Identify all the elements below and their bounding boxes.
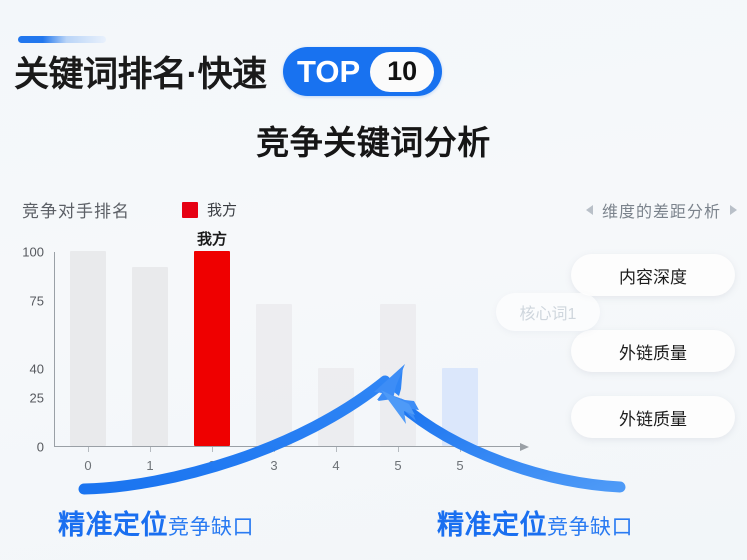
bar [256,304,292,446]
dimension-pill[interactable]: 内容深度 [571,254,735,296]
chart-legend: 我方 [182,199,237,220]
legend-swatch-icon [182,202,198,218]
x-tick-label: 5 [394,458,401,473]
bar [442,368,478,446]
dimension-pill-label: 外链质量 [619,339,687,364]
keyword-ghost-pill-label: 核心词1 [520,300,577,324]
accent-bar [18,36,106,43]
keyword-ghost-pill[interactable]: 核心词1 [496,293,600,331]
caption-right: 精准定位 竞争缺口 [437,503,633,542]
dimension-pill[interactable]: 外链质量 [571,396,735,438]
y-tick-label: 75 [30,293,44,308]
x-tick-mark [150,447,151,452]
top-badge-number: 10 [370,52,434,92]
x-axis-arrow-icon [520,443,529,451]
legend-label: 我方 [207,199,237,220]
bar [380,304,416,446]
y-tick-label: 0 [37,440,44,455]
caption-right-strong: 精准定位 [437,503,547,542]
x-tick-label: 3 [270,458,277,473]
bar [70,251,106,446]
y-axis [54,252,55,447]
bar [132,267,168,446]
x-tick-mark [460,447,461,452]
chevron-right-icon[interactable] [730,205,737,215]
caption-left-strong: 精准定位 [58,503,168,542]
x-tick-mark [274,447,275,452]
top-badge-word: TOP [297,56,370,87]
x-tick-mark [336,447,337,452]
dimension-panel-header: 维度的差距分析 [586,198,737,222]
top-rank-badge: TOP 10 [283,47,442,96]
page-title-text: 关键词排名·快速 [14,57,267,92]
x-tick-label: 1 [146,458,153,473]
caption-right-weak: 竞争缺口 [547,511,633,541]
y-tick-label: 100 [22,245,44,260]
chart-title: 竞争对手排名 [22,197,130,222]
page-subtitle: 竞争关键词分析 [0,116,747,164]
bar [318,368,354,446]
bar-chart: 1007540250 0123455 我方 [10,240,530,480]
x-tick-label: 4 [332,458,339,473]
x-tick-label: 2 [208,458,215,473]
x-tick-label: 0 [84,458,91,473]
caption-left-weak: 竞争缺口 [168,511,254,541]
x-tick-mark [212,447,213,452]
highlight-bar-label: 我方 [197,228,227,249]
dimension-pill[interactable]: 外链质量 [571,330,735,372]
y-tick-label: 40 [30,362,44,377]
caption-left: 精准定位 竞争缺口 [58,503,254,542]
dimension-pill-label: 外链质量 [619,405,687,430]
page-title: 关键词排名·快速 [14,48,267,100]
x-tick-label: 5 [456,458,463,473]
chevron-left-icon[interactable] [586,205,593,215]
chart-header-left: 竞争对手排名 我方 [22,197,237,222]
plot-area: 1007540250 0123455 我方 [54,252,504,447]
x-tick-mark [88,447,89,452]
bar-highlight [194,251,230,446]
dimension-pill-label: 内容深度 [619,263,687,288]
x-tick-mark [398,447,399,452]
dimension-panel-title: 维度的差距分析 [602,198,721,222]
y-tick-label: 25 [30,391,44,406]
